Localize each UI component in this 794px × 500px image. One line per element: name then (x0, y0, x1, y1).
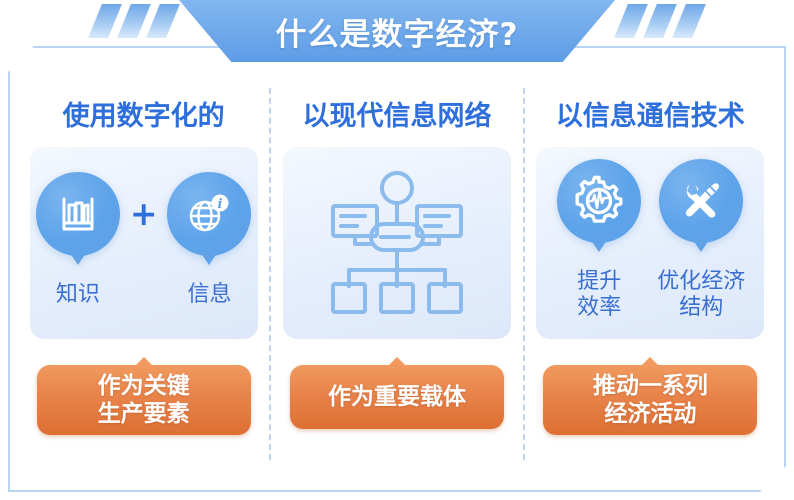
globe-info-icon: i (167, 172, 251, 256)
icon-group: 知识 + i 信息 (30, 172, 258, 308)
column-information-network: 以现代信息网络 (271, 74, 522, 486)
svg-text:i: i (218, 197, 223, 212)
icon-cell-efficiency: 提升 效率 (551, 159, 647, 321)
decorative-stripes-right (621, 4, 699, 38)
column-title: 以现代信息网络 (302, 94, 491, 133)
stripe-icon (643, 4, 677, 38)
header-banner: 什么是数字经济? (0, 0, 794, 70)
icon-cell-knowledge: 知识 (30, 172, 126, 308)
outcome-button-label: 作为重要载体 (328, 383, 466, 411)
icon-group (283, 147, 511, 339)
stripe-icon (146, 4, 180, 38)
decorative-stripes-left (95, 4, 173, 38)
outcome-button-label: 作为关键 生产要素 (98, 372, 190, 428)
stripe-icon (614, 4, 648, 38)
page-title: 什么是数字经济? (276, 9, 519, 54)
column-title: 使用数字化的 (63, 94, 225, 133)
wrench-screwdriver-icon (659, 159, 743, 243)
icon-cell-information: i 信息 (161, 172, 257, 308)
icon-cell-structure: 优化经济 结构 (653, 159, 749, 321)
column-ict: 以信息通信技术 提升 效率 (525, 74, 776, 486)
icon-panel: 知识 + i 信息 (30, 147, 258, 339)
outcome-button-3[interactable]: 推动一系列 经济活动 (543, 365, 757, 435)
plus-connector: + (130, 172, 158, 256)
title-banner-shape: 什么是数字经济? (179, 0, 615, 62)
icon-label: 提升 效率 (577, 269, 621, 321)
outcome-button-1[interactable]: 作为关键 生产要素 (37, 365, 251, 435)
icon-group: 提升 效率 优化经济 结构 (551, 159, 749, 321)
stripe-icon (88, 4, 122, 38)
icon-panel: 提升 效率 优化经济 结构 (536, 147, 764, 339)
gear-pulse-icon (557, 159, 641, 243)
column-title: 以信息通信技术 (556, 94, 745, 133)
icon-label: 优化经济 结构 (657, 269, 745, 321)
outcome-button-label: 推动一系列 经济活动 (593, 372, 708, 428)
icon-panel (283, 147, 511, 339)
icon-label: 知识 (56, 282, 100, 308)
column-digitalization: 使用数字化的 知识 + (18, 74, 269, 486)
stripe-icon (117, 4, 151, 38)
outcome-button-2[interactable]: 作为重要载体 (290, 365, 504, 429)
stripe-icon (672, 4, 706, 38)
books-icon (36, 172, 120, 256)
content-columns: 使用数字化的 知识 + (18, 74, 776, 486)
network-topology-icon (321, 166, 473, 320)
icon-label: 信息 (187, 282, 231, 308)
